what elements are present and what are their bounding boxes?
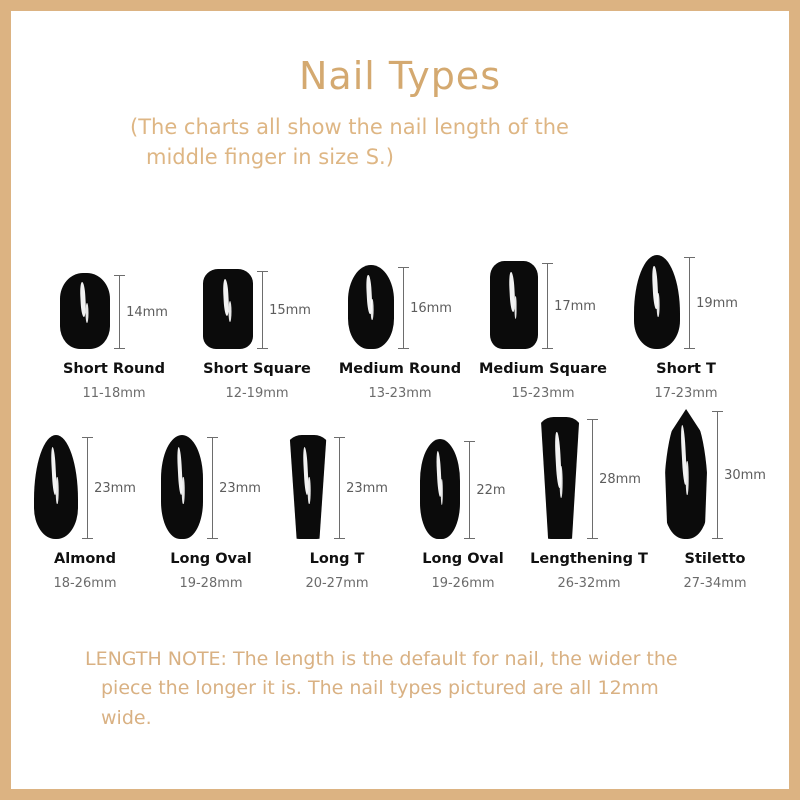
measurement-label: 23mm: [219, 481, 261, 496]
nail-figure: 30mm: [664, 409, 766, 539]
nail-stiletto-icon: [664, 409, 708, 539]
measurement-bar-icon: [469, 441, 470, 539]
measurement-bar-icon: [717, 411, 718, 539]
length-note: LENGTH NOTE: The length is the default f…: [11, 645, 789, 733]
nail-length-range: 20-27mm: [305, 576, 368, 591]
length-note-line-1: LENGTH NOTE: The length is the default f…: [85, 648, 678, 670]
nail-length-range: 13-23mm: [368, 386, 431, 401]
measurement-indicator: 17mm: [547, 263, 596, 349]
nail-type-item[interactable]: 30mmStiletto27-34mm: [652, 409, 778, 591]
nail-long-t-icon: [286, 435, 330, 539]
nail-figure: 16mm: [348, 243, 452, 349]
nail-type-item[interactable]: 23mmLong T20-27mm: [274, 409, 400, 591]
nail-figure: 28mm: [537, 409, 641, 539]
nail-types-infographic: Nail Types (The charts all show the nail…: [0, 0, 800, 800]
nail-type-name: Medium Square: [479, 361, 607, 377]
measurement-indicator: 22m: [469, 441, 505, 539]
measurement-bar-icon: [547, 263, 548, 349]
nail-length-range: 12-19mm: [225, 386, 288, 401]
nail-length-range: 18-26mm: [53, 576, 116, 591]
nail-figure: 15mm: [203, 243, 311, 349]
nail-type-name: Long Oval: [170, 551, 252, 567]
page-title: Nail Types: [11, 56, 789, 98]
nail-type-name: Lengthening T: [530, 551, 648, 567]
nail-row-2: 23mmAlmond18-26mm23mmLong Oval19-28mm23m…: [11, 409, 789, 591]
measurement-bar-icon: [403, 267, 404, 349]
nail-figure: 17mm: [490, 243, 596, 349]
nail-type-item[interactable]: 23mmAlmond18-26mm: [22, 409, 148, 591]
nail-length-range: 26-32mm: [557, 576, 620, 591]
subtitle-line-1: (The charts all show the nail length of …: [120, 112, 680, 142]
nail-type-item[interactable]: 14mmShort Round11-18mm: [43, 243, 186, 401]
measurement-indicator: 19mm: [689, 257, 738, 349]
length-note-line-2: piece the longer it is. The nail types p…: [85, 674, 715, 733]
nail-length-range: 11-18mm: [82, 386, 145, 401]
nail-length-range: 27-34mm: [683, 576, 746, 591]
measurement-indicator: 15mm: [262, 271, 311, 349]
measurement-label: 22m: [476, 483, 505, 498]
nail-short-t-icon: [634, 255, 680, 349]
measurement-label: 28mm: [599, 472, 641, 487]
nail-length-range: 17-23mm: [654, 386, 717, 401]
nail-figure: 14mm: [60, 243, 168, 349]
measurement-indicator: 23mm: [339, 437, 388, 539]
nail-type-item[interactable]: 16mmMedium Round13-23mm: [329, 243, 472, 401]
nail-medium-square-icon: [490, 261, 538, 349]
measurement-bar-icon: [87, 437, 88, 539]
measurement-bar-icon: [262, 271, 263, 349]
measurement-label: 23mm: [94, 481, 136, 496]
measurement-label: 30mm: [724, 468, 766, 483]
nail-type-name: Long T: [310, 551, 365, 567]
nail-figure: 22m: [420, 409, 505, 539]
measurement-bar-icon: [119, 275, 120, 349]
measurement-label: 17mm: [554, 299, 596, 314]
nail-type-name: Stiletto: [685, 551, 746, 567]
nail-type-item[interactable]: 19mmShort T17-23mm: [615, 243, 758, 401]
measurement-indicator: 28mm: [592, 419, 641, 539]
nail-medium-round-icon: [348, 265, 394, 349]
measurement-indicator: 23mm: [212, 437, 261, 539]
nail-figure: 23mm: [286, 409, 388, 539]
measurement-label: 14mm: [126, 305, 168, 320]
nail-long-oval-2-icon: [420, 439, 460, 539]
nail-type-name: Medium Round: [339, 361, 461, 377]
nail-type-name: Short Round: [63, 361, 165, 377]
nail-type-item[interactable]: 15mmShort Square12-19mm: [186, 243, 329, 401]
nail-short-round-icon: [60, 273, 110, 349]
nail-almond-icon: [34, 435, 78, 539]
measurement-label: 19mm: [696, 296, 738, 311]
subtitle-line-2: middle finger in size S.): [120, 142, 680, 172]
measurement-label: 15mm: [269, 303, 311, 318]
nail-length-range: 19-26mm: [431, 576, 494, 591]
nail-figure: 23mm: [161, 409, 261, 539]
nail-type-name: Long Oval: [422, 551, 504, 567]
measurement-bar-icon: [689, 257, 690, 349]
measurement-label: 16mm: [410, 301, 452, 316]
nail-figure: 23mm: [34, 409, 136, 539]
measurement-indicator: 23mm: [87, 437, 136, 539]
nail-short-square-icon: [203, 269, 253, 349]
nail-type-item[interactable]: 22mLong Oval19-26mm: [400, 409, 526, 591]
nail-type-name: Short Square: [203, 361, 311, 377]
measurement-label: 23mm: [346, 481, 388, 496]
nail-type-name: Almond: [54, 551, 116, 567]
header: Nail Types (The charts all show the nail…: [11, 11, 789, 173]
measurement-indicator: 30mm: [717, 411, 766, 539]
nail-figure: 19mm: [634, 243, 738, 349]
nail-length-range: 19-28mm: [179, 576, 242, 591]
measurement-bar-icon: [212, 437, 213, 539]
measurement-indicator: 16mm: [403, 267, 452, 349]
nail-type-item[interactable]: 23mmLong Oval19-28mm: [148, 409, 274, 591]
measurement-bar-icon: [592, 419, 593, 539]
nail-long-oval-icon: [161, 435, 203, 539]
measurement-indicator: 14mm: [119, 275, 168, 349]
nail-row-1: 14mmShort Round11-18mm15mmShort Square12…: [11, 243, 789, 401]
page-subtitle: (The charts all show the nail length of …: [120, 112, 680, 173]
nail-lengthening-t-icon: [537, 417, 583, 539]
nail-length-range: 15-23mm: [511, 386, 574, 401]
nail-type-name: Short T: [656, 361, 716, 377]
nail-type-item[interactable]: 17mmMedium Square15-23mm: [472, 243, 615, 401]
length-note-text: LENGTH NOTE: The length is the default f…: [85, 645, 715, 733]
nail-type-item[interactable]: 28mmLengthening T26-32mm: [526, 409, 652, 591]
measurement-bar-icon: [339, 437, 340, 539]
